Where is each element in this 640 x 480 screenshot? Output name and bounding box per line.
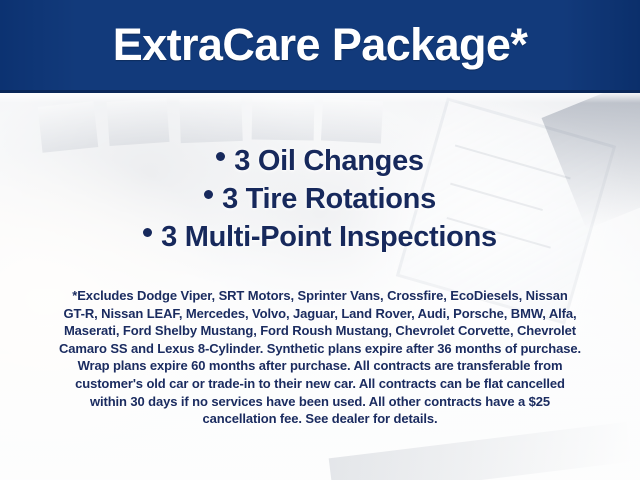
fineprint-line: Camaro SS and Lexus 8-Cylinder. Syntheti… — [22, 340, 618, 358]
list-item: 3 Tire Rotations — [0, 180, 640, 218]
page-title: ExtraCare Package* — [0, 16, 640, 74]
fineprint-line: GT-R, Nissan LEAF, Mercedes, Volvo, Jagu… — [22, 305, 618, 323]
fineprint-line: *Excludes Dodge Viper, SRT Motors, Sprin… — [22, 287, 618, 305]
fineprint-line: within 30 days if no services have been … — [22, 393, 618, 411]
header-band: ExtraCare Package* — [0, 0, 640, 93]
bullet-icon — [204, 190, 213, 199]
fineprint-disclaimer: *Excludes Dodge Viper, SRT Motors, Sprin… — [22, 287, 618, 428]
list-item: 3 Multi-Point Inspections — [0, 218, 640, 256]
benefits-list: 3 Oil Changes 3 Tire Rotations 3 Multi-P… — [0, 142, 640, 256]
bullet-icon — [216, 152, 225, 161]
fineprint-line: Maserati, Ford Shelby Mustang, Ford Rous… — [22, 322, 618, 340]
fineprint-line: customer's old car or trade-in to their … — [22, 375, 618, 393]
engine-cover-slat — [107, 98, 170, 146]
benefit-label: 3 Oil Changes — [234, 145, 424, 177]
bullet-icon — [143, 228, 152, 237]
engine-cover-slat — [252, 97, 315, 140]
benefit-label: 3 Multi-Point Inspections — [161, 221, 497, 253]
engine-cover-slat — [179, 97, 242, 143]
benefit-label: 3 Tire Rotations — [222, 183, 436, 215]
fineprint-line: cancellation fee. See dealer for details… — [22, 410, 618, 428]
tool-shape — [329, 422, 632, 480]
fineprint-line: Wrap plans expire 60 months after purcha… — [22, 357, 618, 375]
extracare-package-ad: ExtraCare Package* 3 Oil Changes 3 Tire … — [0, 0, 640, 480]
list-item: 3 Oil Changes — [0, 142, 640, 180]
engine-cover-slat — [321, 98, 383, 143]
